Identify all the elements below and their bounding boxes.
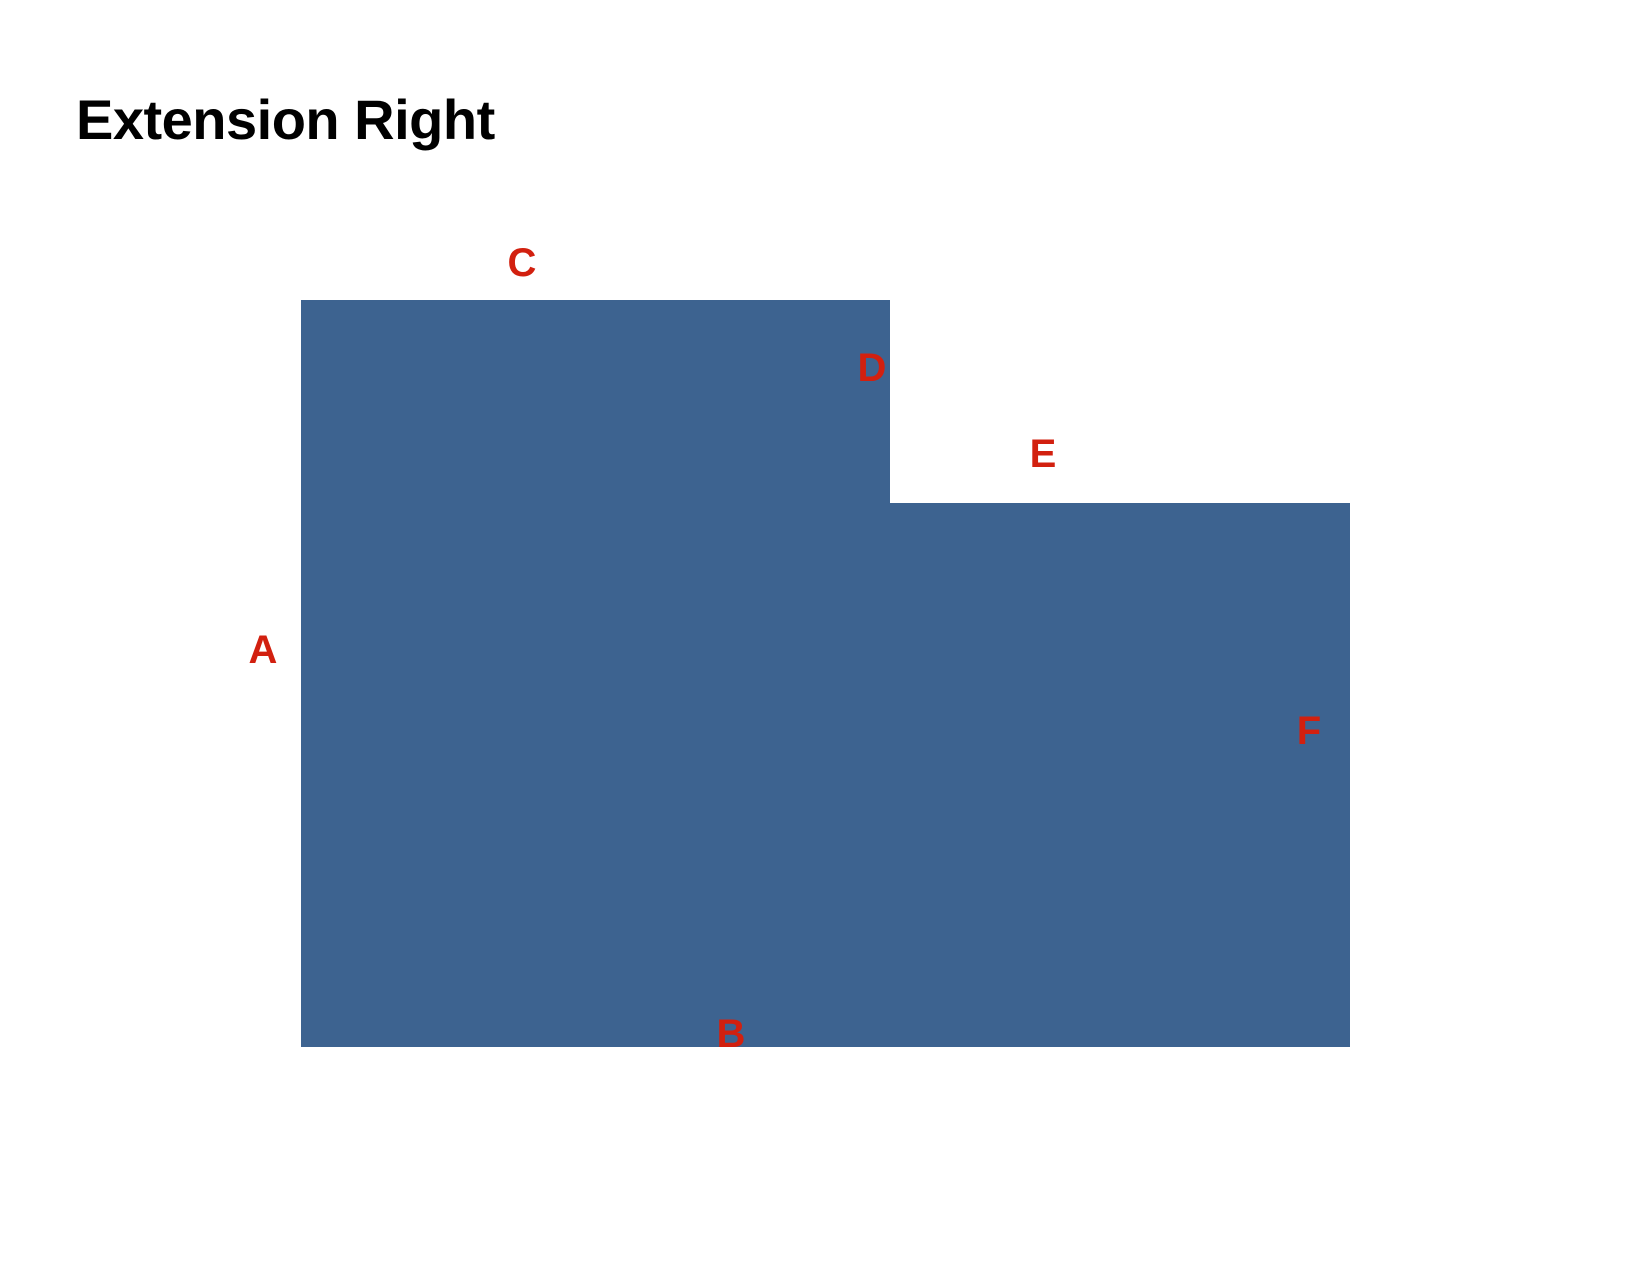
step-polygon-figure <box>0 0 1650 1275</box>
edge-label-a: A <box>249 630 278 670</box>
edge-label-c: C <box>508 243 537 283</box>
edge-label-e: E <box>1030 434 1057 474</box>
edge-label-b: B <box>717 1014 746 1054</box>
step-polygon-shape <box>301 300 1350 1047</box>
edge-label-d: D <box>858 348 887 388</box>
edge-label-f: F <box>1297 711 1321 751</box>
slide-canvas: Extension Right A B C D E F <box>0 0 1650 1275</box>
